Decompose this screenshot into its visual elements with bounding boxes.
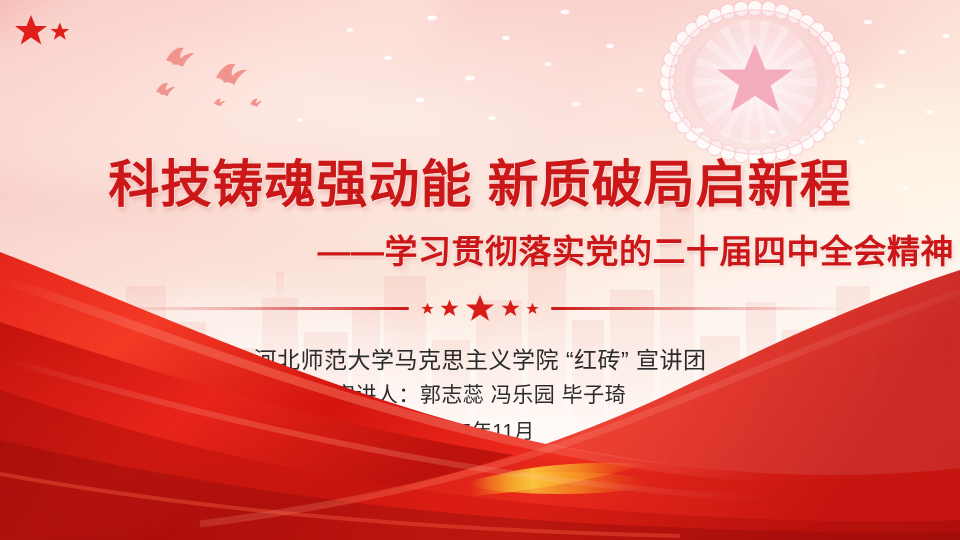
presentation-slide: 科技铸魂强动能 新质破局启新程 ——学习贯彻落实党的二十届四中全会精神	[0, 0, 960, 540]
red-silk-ribbon	[0, 230, 960, 540]
page-title: 科技铸魂强动能 新质破局启新程	[0, 143, 960, 217]
